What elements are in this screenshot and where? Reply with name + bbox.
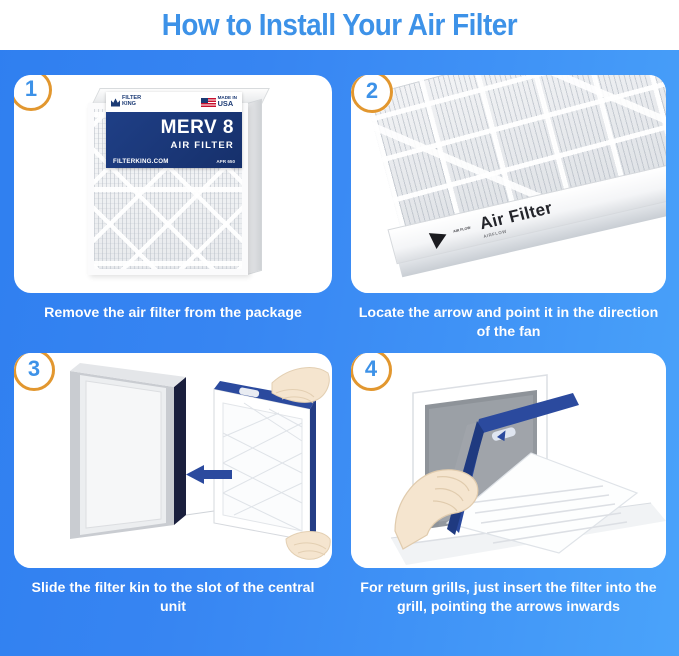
step-panel-3: 3 Slide the filter kin to the slot of th… xyxy=(14,353,332,638)
step-number-2: 2 xyxy=(366,80,378,102)
blue-framed-filter xyxy=(214,381,316,541)
step-caption-1: Remove the air filter from the package xyxy=(14,304,332,323)
merv-rating: MERV 8 xyxy=(106,118,234,137)
website-text: FILTERKING.COM xyxy=(113,158,169,165)
hand-bottom xyxy=(286,532,330,560)
filter-side-edge xyxy=(247,99,262,275)
step-panel-2: AIR FLOW Air Filter AIRFLOW 2 Locate the… xyxy=(351,75,666,360)
hand-top xyxy=(272,368,329,403)
step-caption-4: For return grills, just insert the filte… xyxy=(351,579,666,617)
step-3-card: 3 xyxy=(14,353,332,568)
steps-grid: FILTER KING MADE IN USA xyxy=(0,50,679,656)
step-4-card: 4 xyxy=(351,353,666,568)
filter-support-bar xyxy=(94,187,242,192)
apr-rating-text: APR 650 xyxy=(216,159,235,164)
central-unit-slot xyxy=(70,363,186,539)
country-label: USA xyxy=(218,100,237,108)
guide-line xyxy=(186,511,214,515)
airflow-arrow-icon xyxy=(424,225,447,248)
product-type-label: AIR FILTER xyxy=(106,140,234,151)
air-filter-corner-photo: AIR FLOW Air Filter AIRFLOW xyxy=(351,75,666,293)
filter-body: AIR FLOW Air Filter AIRFLOW xyxy=(352,75,666,293)
step-number-4: 4 xyxy=(365,358,377,380)
step-number-1: 1 xyxy=(25,78,37,100)
merv-8-filter-photo: FILTER KING MADE IN USA xyxy=(88,88,263,278)
label-body: MERV 8 AIR FILTER FILTERKING.COM APR 650 xyxy=(106,112,242,168)
label-footer-row: FILTERKING.COM APR 650 xyxy=(106,158,242,165)
slide-filter-svg xyxy=(14,353,332,568)
infographic-page: How to Install Your Air Filter xyxy=(0,0,679,656)
airflow-arrow-caption: AIR FLOW xyxy=(453,227,471,234)
step-1-card: FILTER KING MADE IN USA xyxy=(14,75,332,293)
usa-flag-icon xyxy=(201,98,216,107)
brand-text: FILTER KING xyxy=(122,96,141,108)
step-panel-4: 4 For return grills, just insert the fil… xyxy=(351,353,666,638)
page-title: How to Install Your Air Filter xyxy=(162,7,517,43)
filter-support-bar xyxy=(94,261,242,266)
header-bar: How to Install Your Air Filter xyxy=(0,0,679,50)
step-2-card: AIR FLOW Air Filter AIRFLOW 2 xyxy=(351,75,666,293)
slide-filter-illustration xyxy=(14,353,332,568)
label-header-row: FILTER KING MADE IN USA xyxy=(106,92,242,112)
filter-king-logo: FILTER KING xyxy=(111,96,141,108)
step-panel-1: FILTER KING MADE IN USA xyxy=(14,75,332,360)
return-grill-illustration xyxy=(351,353,666,568)
step-number-3: 3 xyxy=(28,358,40,380)
product-label: FILTER KING MADE IN USA xyxy=(106,92,242,168)
crown-icon xyxy=(111,98,120,107)
brand-line-2: KING xyxy=(122,102,141,108)
return-grill-svg xyxy=(351,353,666,568)
step-caption-2: Locate the arrow and point it in the dir… xyxy=(351,304,666,342)
made-in-usa-text: MADE IN USA xyxy=(218,95,237,108)
made-in-usa-mark: MADE IN USA xyxy=(201,95,237,108)
step-number-badge-1: 1 xyxy=(14,75,52,111)
step-caption-3: Slide the filter kin to the slot of the … xyxy=(14,579,332,617)
